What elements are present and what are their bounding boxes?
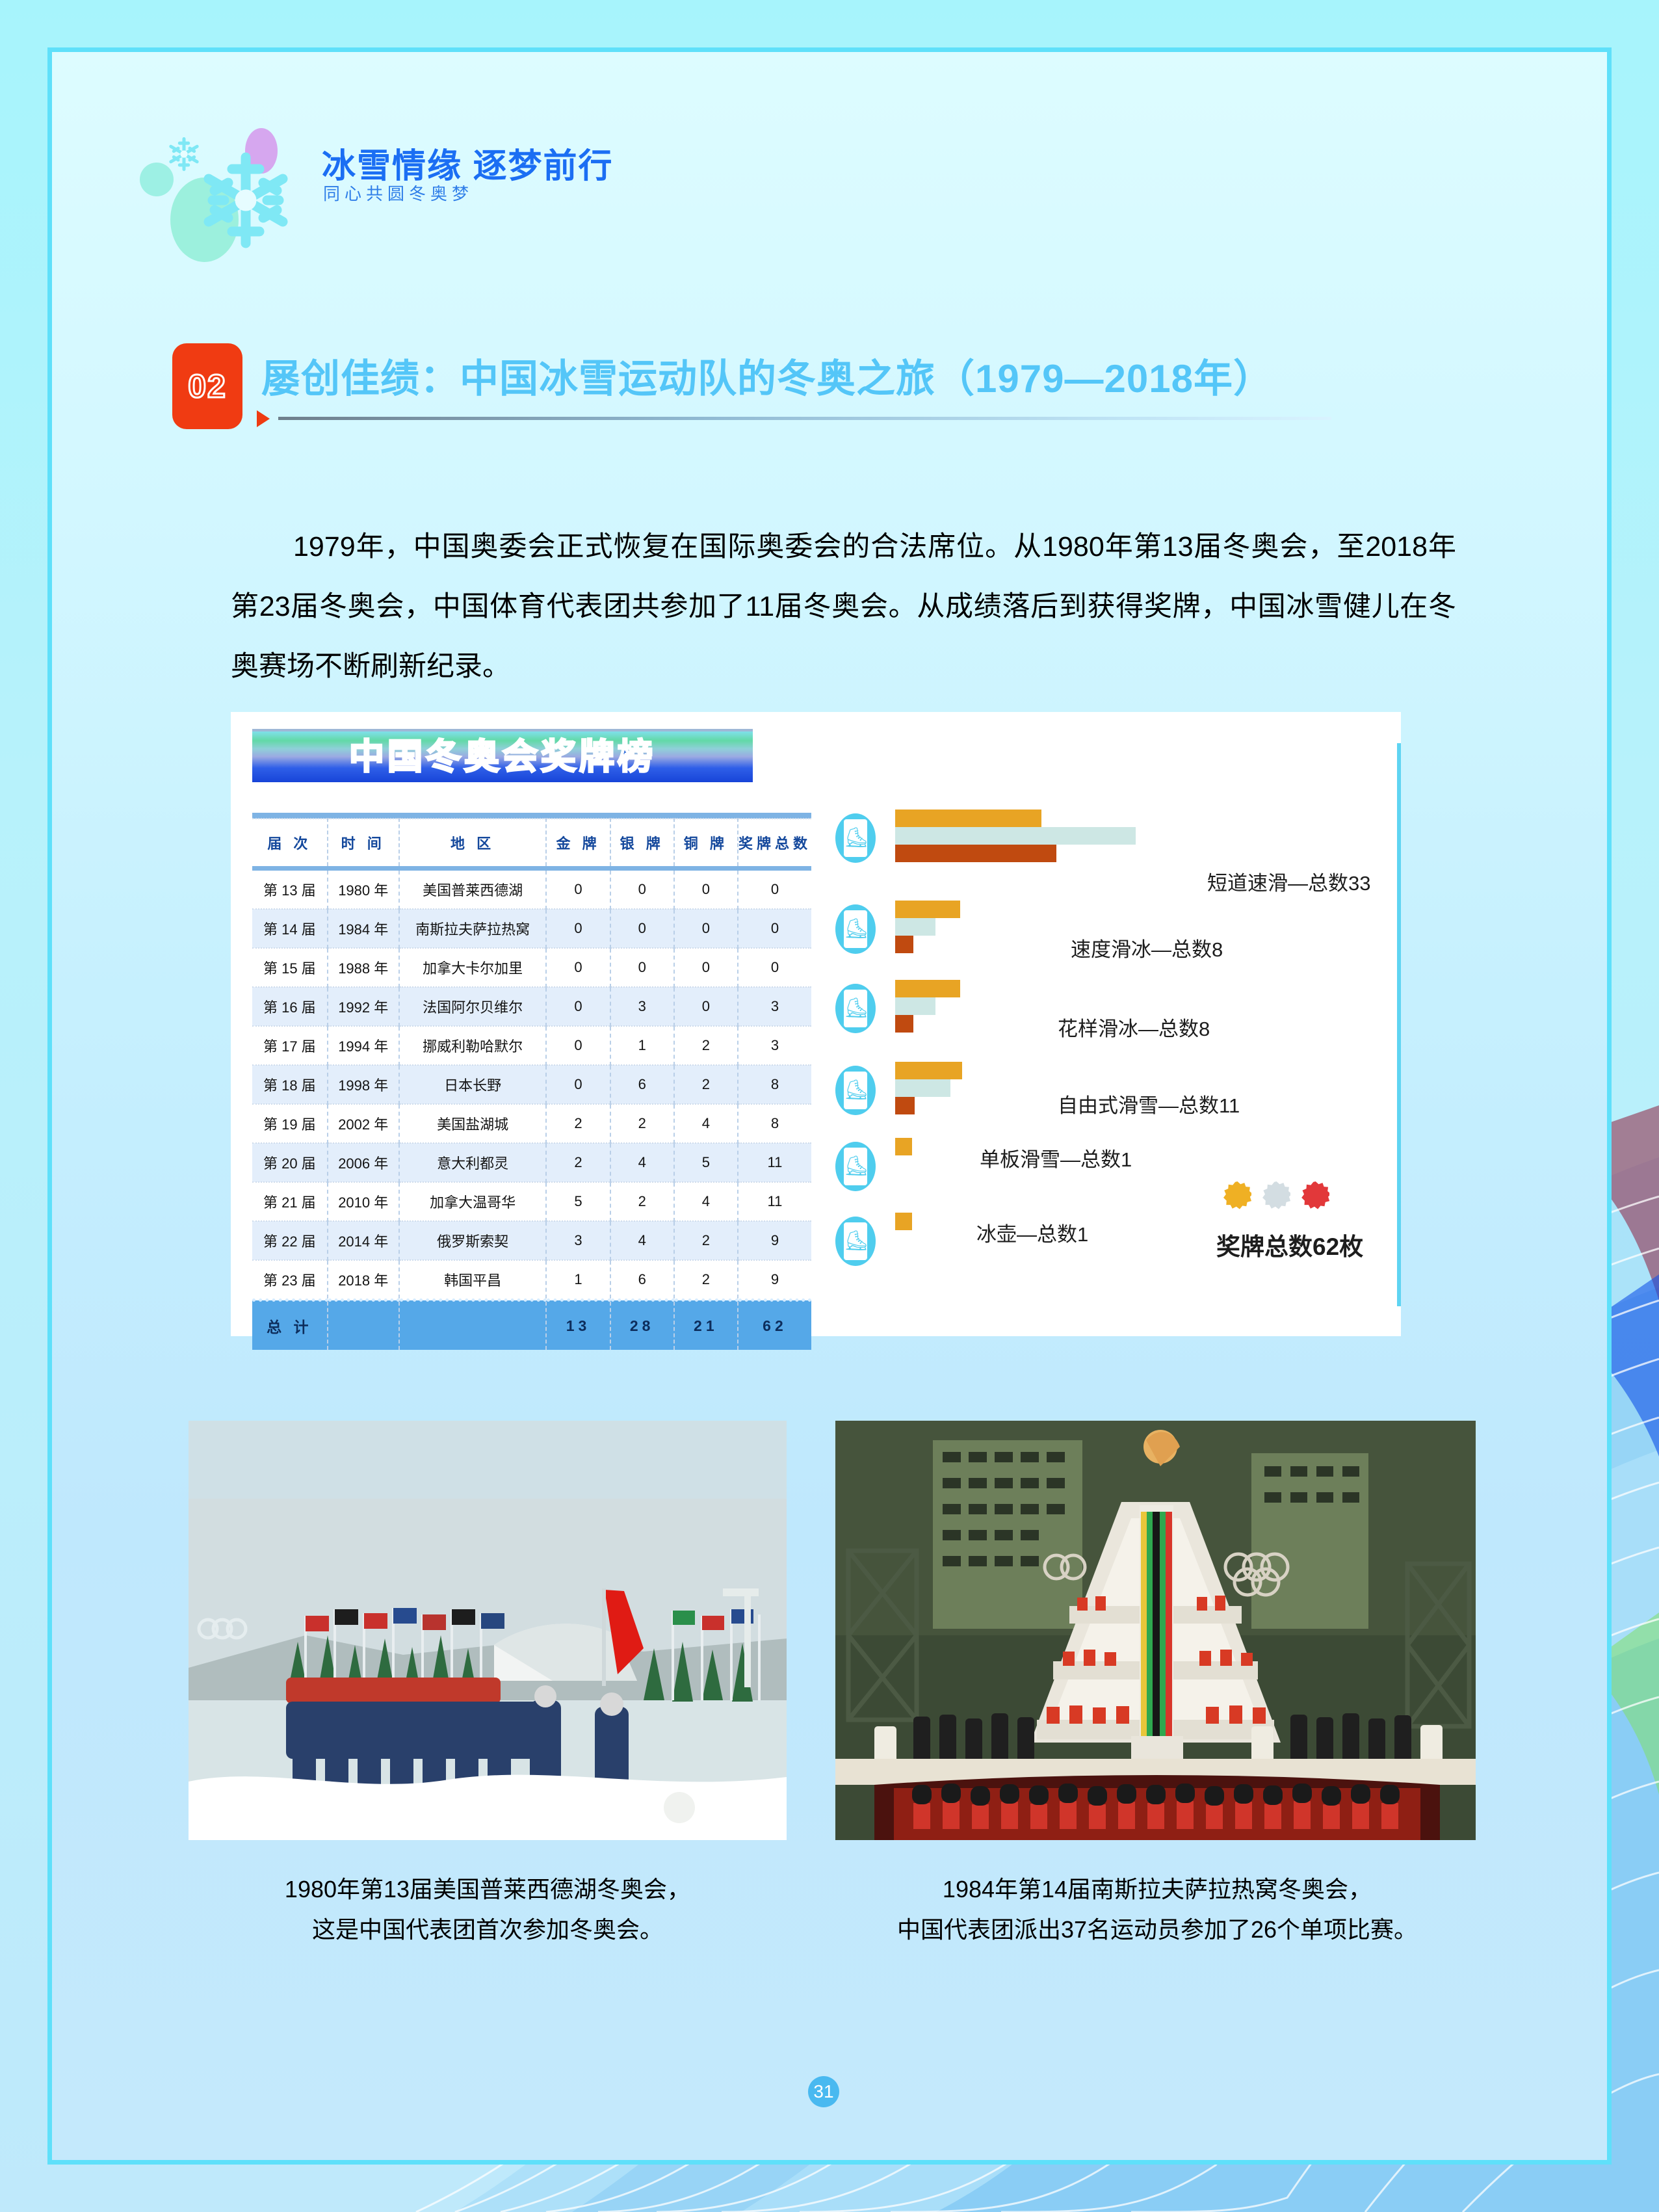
caption-lake-placid: 1980年第13届美国普莱西德湖冬奥会， 这是中国代表团首次参加冬奥会。 xyxy=(182,1869,793,1950)
chart-label: 自由式滑雪—总数11 xyxy=(1058,1089,1240,1118)
table-cell: 第 15 届 xyxy=(252,948,328,987)
table-total-cell xyxy=(399,1300,547,1350)
table-cell: 1998 年 xyxy=(328,1065,399,1104)
table-total-cell: 总 计 xyxy=(252,1300,328,1350)
silver-bar xyxy=(895,827,1136,845)
table-cell: 韩国平昌 xyxy=(399,1260,547,1300)
silver-bar xyxy=(895,918,935,936)
table-row: 第 17 届1994 年挪威利勒哈默尔0123 xyxy=(252,1026,811,1065)
table-cell: 第 20 届 xyxy=(252,1143,328,1182)
masthead-title: 冰雪情缘 逐梦前行 xyxy=(322,138,613,187)
gold-bar xyxy=(895,980,960,997)
table-cell: 4 xyxy=(610,1143,674,1182)
table-cell: 0 xyxy=(738,909,811,948)
table-cell: 0 xyxy=(610,948,674,987)
table-col-header: 奖牌总数 xyxy=(738,819,811,869)
triangle-marker-icon xyxy=(257,410,270,427)
table-cell: 6 xyxy=(610,1065,674,1104)
table-cell: 第 16 届 xyxy=(252,987,328,1026)
figure-skating-icon: ⛸ xyxy=(835,984,876,1033)
table-cell: 11 xyxy=(738,1182,811,1221)
table-col-header: 铜 牌 xyxy=(674,819,738,869)
table-cell: 意大利都灵 xyxy=(399,1143,547,1182)
table-cell: 8 xyxy=(738,1104,811,1143)
freestyle-ski-icon: ⛸ xyxy=(835,1066,876,1115)
icon-glyph: ⛸ xyxy=(844,1222,867,1260)
table-cell: 第 17 届 xyxy=(252,1026,328,1065)
table-cell: 0 xyxy=(674,948,738,987)
medal-table: 届 次时 间地 区金 牌银 牌铜 牌奖牌总数 第 13 届1980 年美国普莱西… xyxy=(252,813,811,1350)
table-cell: 0 xyxy=(546,987,610,1026)
table-row: 第 16 届1992 年法国阿尔贝维尔0303 xyxy=(252,987,811,1026)
icon-glyph: ⛸ xyxy=(844,910,867,948)
caption-line-2: 这是中国代表团首次参加冬奥会。 xyxy=(182,1910,793,1950)
table-total-cell xyxy=(328,1300,399,1350)
table-cell: 加拿大卡尔加里 xyxy=(399,948,547,987)
chart-bar-group xyxy=(895,1138,912,1155)
table-cell: 4 xyxy=(610,1221,674,1260)
table-cell: 0 xyxy=(674,869,738,910)
table-cell: 俄罗斯索契 xyxy=(399,1221,547,1260)
table-cell: 第 22 届 xyxy=(252,1221,328,1260)
table-cell: 1984 年 xyxy=(328,909,399,948)
table-row: 第 18 届1998 年日本长野0628 xyxy=(252,1065,811,1104)
heading-divider xyxy=(278,417,1331,420)
icon-glyph: ⛸ xyxy=(844,990,867,1027)
table-total-row: 总 计13282162 xyxy=(252,1300,811,1350)
page-root: 冰雪情缘 逐梦前行 同心共圆冬奥梦 02 屡创佳绩：中国冰雪运动队的冬奥之旅（1… xyxy=(0,0,1659,2212)
table-cell: 0 xyxy=(610,869,674,910)
table-total-cell: 13 xyxy=(546,1300,610,1350)
table-cell: 第 13 届 xyxy=(252,869,328,910)
table-cell: 0 xyxy=(738,948,811,987)
table-cell: 第 23 届 xyxy=(252,1260,328,1300)
gold-bar xyxy=(895,1062,962,1079)
table-cell: 2 xyxy=(546,1104,610,1143)
gold-bar xyxy=(895,901,960,918)
table-banner-title: 中国冬奥会奖牌榜 xyxy=(252,731,753,782)
table-cell: 1980 年 xyxy=(328,869,399,910)
gold-bar xyxy=(895,1213,912,1230)
section-number-badge: 02 xyxy=(172,343,242,429)
table-cell: 0 xyxy=(546,909,610,948)
chart-label: 短道速滑—总数33 xyxy=(1207,867,1370,896)
chart-bar-group xyxy=(895,810,1136,862)
table-cell: 2 xyxy=(674,1221,738,1260)
table-col-header: 时 间 xyxy=(328,819,399,869)
table-cell: 法国阿尔贝维尔 xyxy=(399,987,547,1026)
page-number: 31 xyxy=(808,2076,839,2107)
table-cell: 2 xyxy=(674,1065,738,1104)
table-cell: 1992 年 xyxy=(328,987,399,1026)
table-row: 第 22 届2014 年俄罗斯索契3429 xyxy=(252,1221,811,1260)
table-cell: 1994 年 xyxy=(328,1026,399,1065)
bronze-medal-icon xyxy=(1301,1181,1329,1209)
short-track-icon: ⛸ xyxy=(835,813,876,863)
table-row: 第 20 届2006 年意大利都灵24511 xyxy=(252,1143,811,1182)
table-cell: 2006 年 xyxy=(328,1143,399,1182)
speed-skating-icon: ⛸ xyxy=(835,904,876,954)
table-body: 第 13 届1980 年美国普莱西德湖0000第 14 届1984 年南斯拉夫萨… xyxy=(252,869,811,1350)
snowflake-icon-large xyxy=(197,151,294,249)
table-col-header: 地 区 xyxy=(399,819,547,869)
table-total-cell: 62 xyxy=(738,1300,811,1350)
table-cell: 日本长野 xyxy=(399,1065,547,1104)
table-cell: 0 xyxy=(674,909,738,948)
table-cell: 6 xyxy=(610,1260,674,1300)
icon-glyph: ⛸ xyxy=(844,1148,867,1185)
table-cell: 第 14 届 xyxy=(252,909,328,948)
table-cell: 2 xyxy=(546,1143,610,1182)
caption-line-2: 中国代表团派出37名运动员参加了26个单项比赛。 xyxy=(832,1910,1482,1950)
table-total-cell: 28 xyxy=(610,1300,674,1350)
caption-sarajevo: 1984年第14届南斯拉夫萨拉热窝冬奥会， 中国代表团派出37名运动员参加了26… xyxy=(832,1869,1482,1950)
table-cell: 2 xyxy=(610,1182,674,1221)
table-cell: 0 xyxy=(610,909,674,948)
table-row: 第 13 届1980 年美国普莱西德湖0000 xyxy=(252,869,811,910)
silver-medal-icon xyxy=(1262,1181,1290,1209)
body-paragraph: 1979年，中国奥委会正式恢复在国际奥委会的合法席位。从1980年第13届冬奥会… xyxy=(231,517,1456,696)
table-cell: 第 19 届 xyxy=(252,1104,328,1143)
curling-icon: ⛸ xyxy=(835,1217,876,1266)
table-cell: 加拿大温哥华 xyxy=(399,1182,547,1221)
chart-bar-group xyxy=(895,980,960,1033)
section-heading: 02 屡创佳绩：中国冰雪运动队的冬奥之旅（1979—2018年） xyxy=(172,343,1472,428)
medal-total-label: 奖牌总数62枚 xyxy=(1216,1227,1363,1262)
table-col-header: 届 次 xyxy=(252,819,328,869)
silver-bar xyxy=(895,1079,950,1097)
table-cell: 2010 年 xyxy=(328,1182,399,1221)
table-cell: 3 xyxy=(738,987,811,1026)
table-cell: 4 xyxy=(674,1182,738,1221)
silver-bar xyxy=(895,997,935,1015)
snowboard-icon: ⛸ xyxy=(835,1142,876,1191)
table-cell: 2002 年 xyxy=(328,1104,399,1143)
table-cell: 0 xyxy=(546,1065,610,1104)
chart-label: 速度滑冰—总数8 xyxy=(1071,933,1223,962)
table-row: 第 19 届2002 年美国盐湖城2248 xyxy=(252,1104,811,1143)
chart-label: 单板滑雪—总数1 xyxy=(980,1143,1132,1172)
table-cell: 0 xyxy=(738,869,811,910)
chart-bar-group xyxy=(895,1213,912,1230)
chart-label: 花样滑冰—总数8 xyxy=(1058,1012,1210,1042)
table-cell: 南斯拉夫萨拉热窝 xyxy=(399,909,547,948)
table-cell: 1 xyxy=(610,1026,674,1065)
bronze-bar xyxy=(895,936,913,953)
table-cell: 9 xyxy=(738,1221,811,1260)
table-cell: 3 xyxy=(738,1026,811,1065)
bronze-bar xyxy=(895,1015,913,1033)
table-row: 第 23 届2018 年韩国平昌1629 xyxy=(252,1260,811,1300)
table-cell: 5 xyxy=(674,1143,738,1182)
table-cell: 挪威利勒哈默尔 xyxy=(399,1026,547,1065)
table-row: 第 15 届1988 年加拿大卡尔加里0000 xyxy=(252,948,811,987)
photo-sarajevo-1984 xyxy=(835,1421,1476,1840)
table-cell: 1988 年 xyxy=(328,948,399,987)
table-cell: 第 21 届 xyxy=(252,1182,328,1221)
section-number: 02 xyxy=(172,343,242,429)
table-total-cell: 21 xyxy=(674,1300,738,1350)
caption-line-1: 1984年第14届南斯拉夫萨拉热窝冬奥会， xyxy=(832,1869,1482,1910)
table-col-header: 银 牌 xyxy=(610,819,674,869)
masthead: 冰雪情缘 逐梦前行 同心共圆冬奥梦 xyxy=(133,114,718,244)
page-title: 屡创佳绩：中国冰雪运动队的冬奥之旅（1979—2018年） xyxy=(261,347,1273,404)
bronze-bar xyxy=(895,845,1056,862)
table-cell: 5 xyxy=(546,1182,610,1221)
table-cell: 2 xyxy=(674,1026,738,1065)
table-cell: 3 xyxy=(610,987,674,1026)
medal-bar-chart: 奖牌总数62枚 ⛸短道速滑—总数33⛸速度滑冰—总数8⛸花样滑冰—总数8⛸自由式… xyxy=(835,810,1355,1304)
table-cell: 第 18 届 xyxy=(252,1065,328,1104)
caption-line-1: 1980年第13届美国普莱西德湖冬奥会， xyxy=(182,1869,793,1910)
medal-table-card: 中国冬奥会奖牌榜 届 次时 间地 区金 牌银 牌铜 牌奖牌总数 第 13 届19… xyxy=(231,712,1401,1336)
table-cell: 2 xyxy=(674,1260,738,1300)
table-banner: 中国冬奥会奖牌榜 xyxy=(252,729,753,782)
table-cell: 3 xyxy=(546,1221,610,1260)
chart-bar-group xyxy=(895,901,960,953)
table-row: 第 14 届1984 年南斯拉夫萨拉热窝0000 xyxy=(252,909,811,948)
table-cell: 1 xyxy=(546,1260,610,1300)
table-cell: 0 xyxy=(546,948,610,987)
icon-glyph: ⛸ xyxy=(844,819,867,857)
gold-bar xyxy=(895,1138,912,1155)
icon-glyph: ⛸ xyxy=(844,1072,867,1109)
table-cell: 美国普莱西德湖 xyxy=(399,869,547,910)
table-header-row: 届 次时 间地 区金 牌银 牌铜 牌奖牌总数 xyxy=(252,819,811,869)
table-cell: 0 xyxy=(674,987,738,1026)
table-cell: 9 xyxy=(738,1260,811,1300)
table-cell: 美国盐湖城 xyxy=(399,1104,547,1143)
photo-lake-placid-1980 xyxy=(189,1421,787,1840)
card-accent-bar xyxy=(1397,743,1401,1306)
bronze-bar xyxy=(895,1097,915,1114)
gold-medal-icon xyxy=(1223,1181,1251,1209)
table-cell: 0 xyxy=(546,869,610,910)
chart-label: 冰壶—总数1 xyxy=(976,1218,1088,1247)
table-cell: 0 xyxy=(546,1026,610,1065)
masthead-subtitle: 同心共圆冬奥梦 xyxy=(323,181,473,205)
gold-bar xyxy=(895,810,1041,827)
medal-legend-icons xyxy=(1223,1181,1337,1212)
table-row: 第 21 届2010 年加拿大温哥华52411 xyxy=(252,1182,811,1221)
table-cell: 2014 年 xyxy=(328,1221,399,1260)
table-cell: 2 xyxy=(610,1104,674,1143)
table-col-header: 金 牌 xyxy=(546,819,610,869)
table-cell: 8 xyxy=(738,1065,811,1104)
table-cell: 11 xyxy=(738,1143,811,1182)
table-cell: 2018 年 xyxy=(328,1260,399,1300)
table-cell: 4 xyxy=(674,1104,738,1143)
chart-bar-group xyxy=(895,1062,962,1114)
